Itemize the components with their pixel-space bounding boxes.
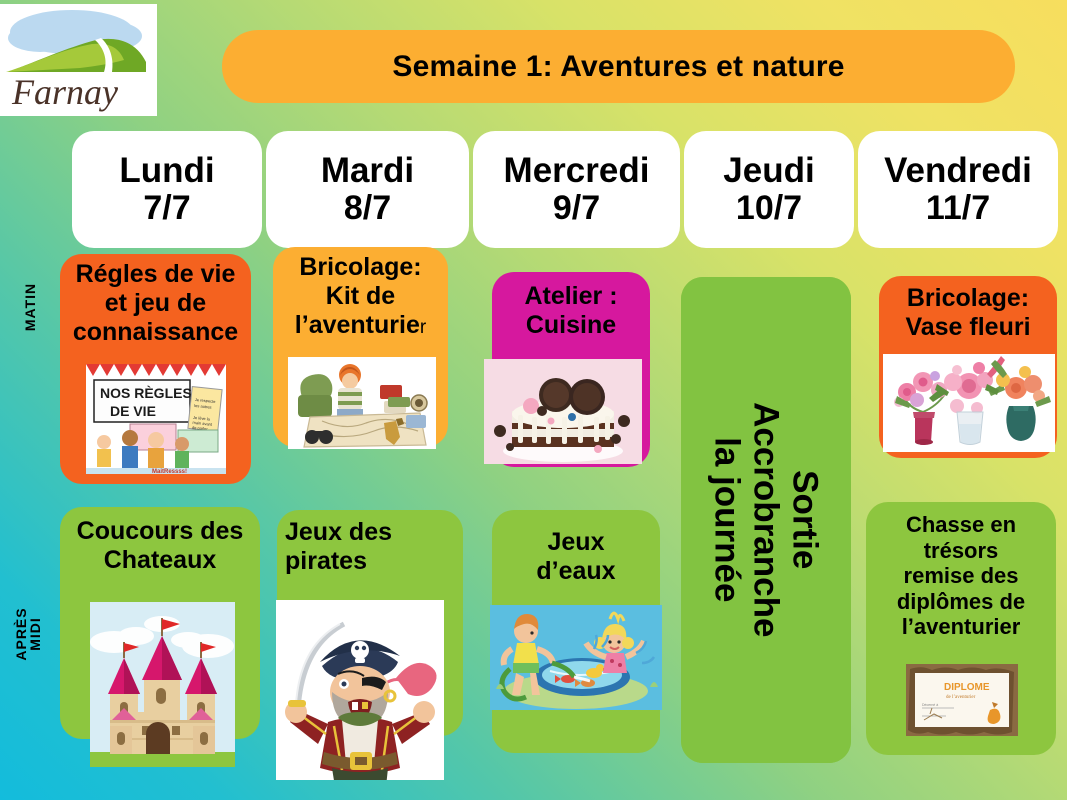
day-name: Jeudi [723, 152, 814, 190]
svg-text:de l’aventurier: de l’aventurier [946, 695, 976, 700]
day-name: Mercredi [504, 152, 650, 190]
activity-image-chateau [90, 602, 235, 767]
activity-label: Bricolage: Kit de l’aventurier [273, 247, 448, 340]
activity-label: Jeux des pirates [277, 510, 463, 576]
pirate-icon [276, 600, 444, 780]
day-name: Lundi [119, 152, 214, 190]
activity-label: Chasse en trésors remise des diplômes de… [866, 502, 1056, 640]
enfants-piscine-icon [490, 605, 662, 710]
kit-aventurier-icon [288, 357, 436, 449]
activity-cell-lundi-matin: Régles de vie et jeu de connaissance NOS… [60, 254, 251, 484]
activity-image-vases-fleuris [883, 354, 1055, 452]
nos-regles-de-vie-poster-icon: NOS RÈGLES DE VIE Je respecte les autres… [86, 364, 226, 474]
activity-cell-mercredi-apresmidi: Jeux d’eaux [492, 510, 660, 753]
activity-label: Régles de vie et jeu de connaissance [60, 254, 251, 347]
activity-image-kit-aventurier [288, 357, 436, 449]
activity-cell-vendredi-apresmidi: Chasse en trésors remise des diplômes de… [866, 502, 1056, 755]
activity-label: Atelier : Cuisine [492, 272, 650, 340]
svg-text:Farnay: Farnay [11, 72, 118, 112]
row-label-matin: MATIN [23, 267, 37, 347]
activity-cell-mercredi-matin: Atelier : Cuisine [492, 272, 650, 467]
day-header-vendredi: Vendredi 11/7 [858, 131, 1058, 248]
svg-text:NOS RÈGLES: NOS RÈGLES [100, 385, 192, 401]
vases-fleuris-icon [883, 354, 1055, 452]
day-header-mercredi: Mercredi 9/7 [473, 131, 680, 248]
svg-text:Décerné à: Décerné à [922, 703, 938, 707]
week-title: Semaine 1: Aventures et nature [392, 50, 844, 84]
activity-label: Bricolage: Vase fleuri [879, 276, 1057, 342]
activity-image-diplome: DIPLOME de l’aventurier Décerné à [906, 664, 1018, 736]
day-date: 11/7 [926, 190, 990, 227]
day-date: 10/7 [736, 190, 802, 227]
farnay-logo: Farnay [0, 4, 157, 116]
week-title-banner: Semaine 1: Aventures et nature [222, 30, 1015, 103]
activity-cell-mardi-apresmidi: Jeux des pirates [277, 510, 463, 736]
row-label-apres-midi: APRÈS MIDI [14, 594, 42, 674]
activity-image-pirate [276, 600, 444, 780]
activity-image-nos-regles-de-vie: NOS RÈGLES DE VIE Je respecte les autres… [86, 364, 226, 474]
planning-poster: Farnay Semaine 1: Aventures et nature Lu… [0, 0, 1067, 800]
day-name: Mardi [321, 152, 414, 190]
day-header-lundi: Lundi 7/7 [72, 131, 262, 248]
activity-label: Jeux d’eaux [492, 510, 660, 586]
gateau-oreo-icon [484, 359, 642, 464]
day-date: 8/7 [344, 190, 391, 227]
fullday-cell-jeudi: Sortie Accrobranche la journée [681, 277, 851, 763]
fullday-label: Sortie Accrobranche la journée [707, 402, 825, 637]
day-header-jeudi: Jeudi 10/7 [684, 131, 854, 248]
svg-text:DE VIE: DE VIE [110, 403, 156, 419]
activity-image-gateau [484, 359, 642, 464]
day-header-mardi: Mardi 8/7 [266, 131, 469, 248]
activity-cell-lundi-apresmidi: Coucours des Chateaux [60, 507, 260, 739]
diplome-aventurier-icon: DIPLOME de l’aventurier Décerné à [906, 664, 1018, 736]
chateau-fort-icon [90, 602, 235, 767]
farnay-logo-icon: Farnay [0, 4, 157, 116]
svg-text:MaitRessss!: MaitRessss! [152, 469, 187, 474]
activity-cell-mardi-matin: Bricolage: Kit de l’aventurier [273, 247, 448, 447]
activity-label: Coucours des Chateaux [60, 507, 260, 575]
day-date: 7/7 [143, 190, 190, 227]
fullday-text-wrap: Sortie Accrobranche la journée [681, 277, 851, 763]
day-name: Vendredi [884, 152, 1032, 190]
activity-cell-vendredi-matin: Bricolage: Vase fleuri [879, 276, 1057, 458]
svg-text:DIPLOME: DIPLOME [944, 682, 990, 693]
activity-image-jeux-eau [490, 605, 662, 710]
day-date: 9/7 [553, 190, 600, 227]
